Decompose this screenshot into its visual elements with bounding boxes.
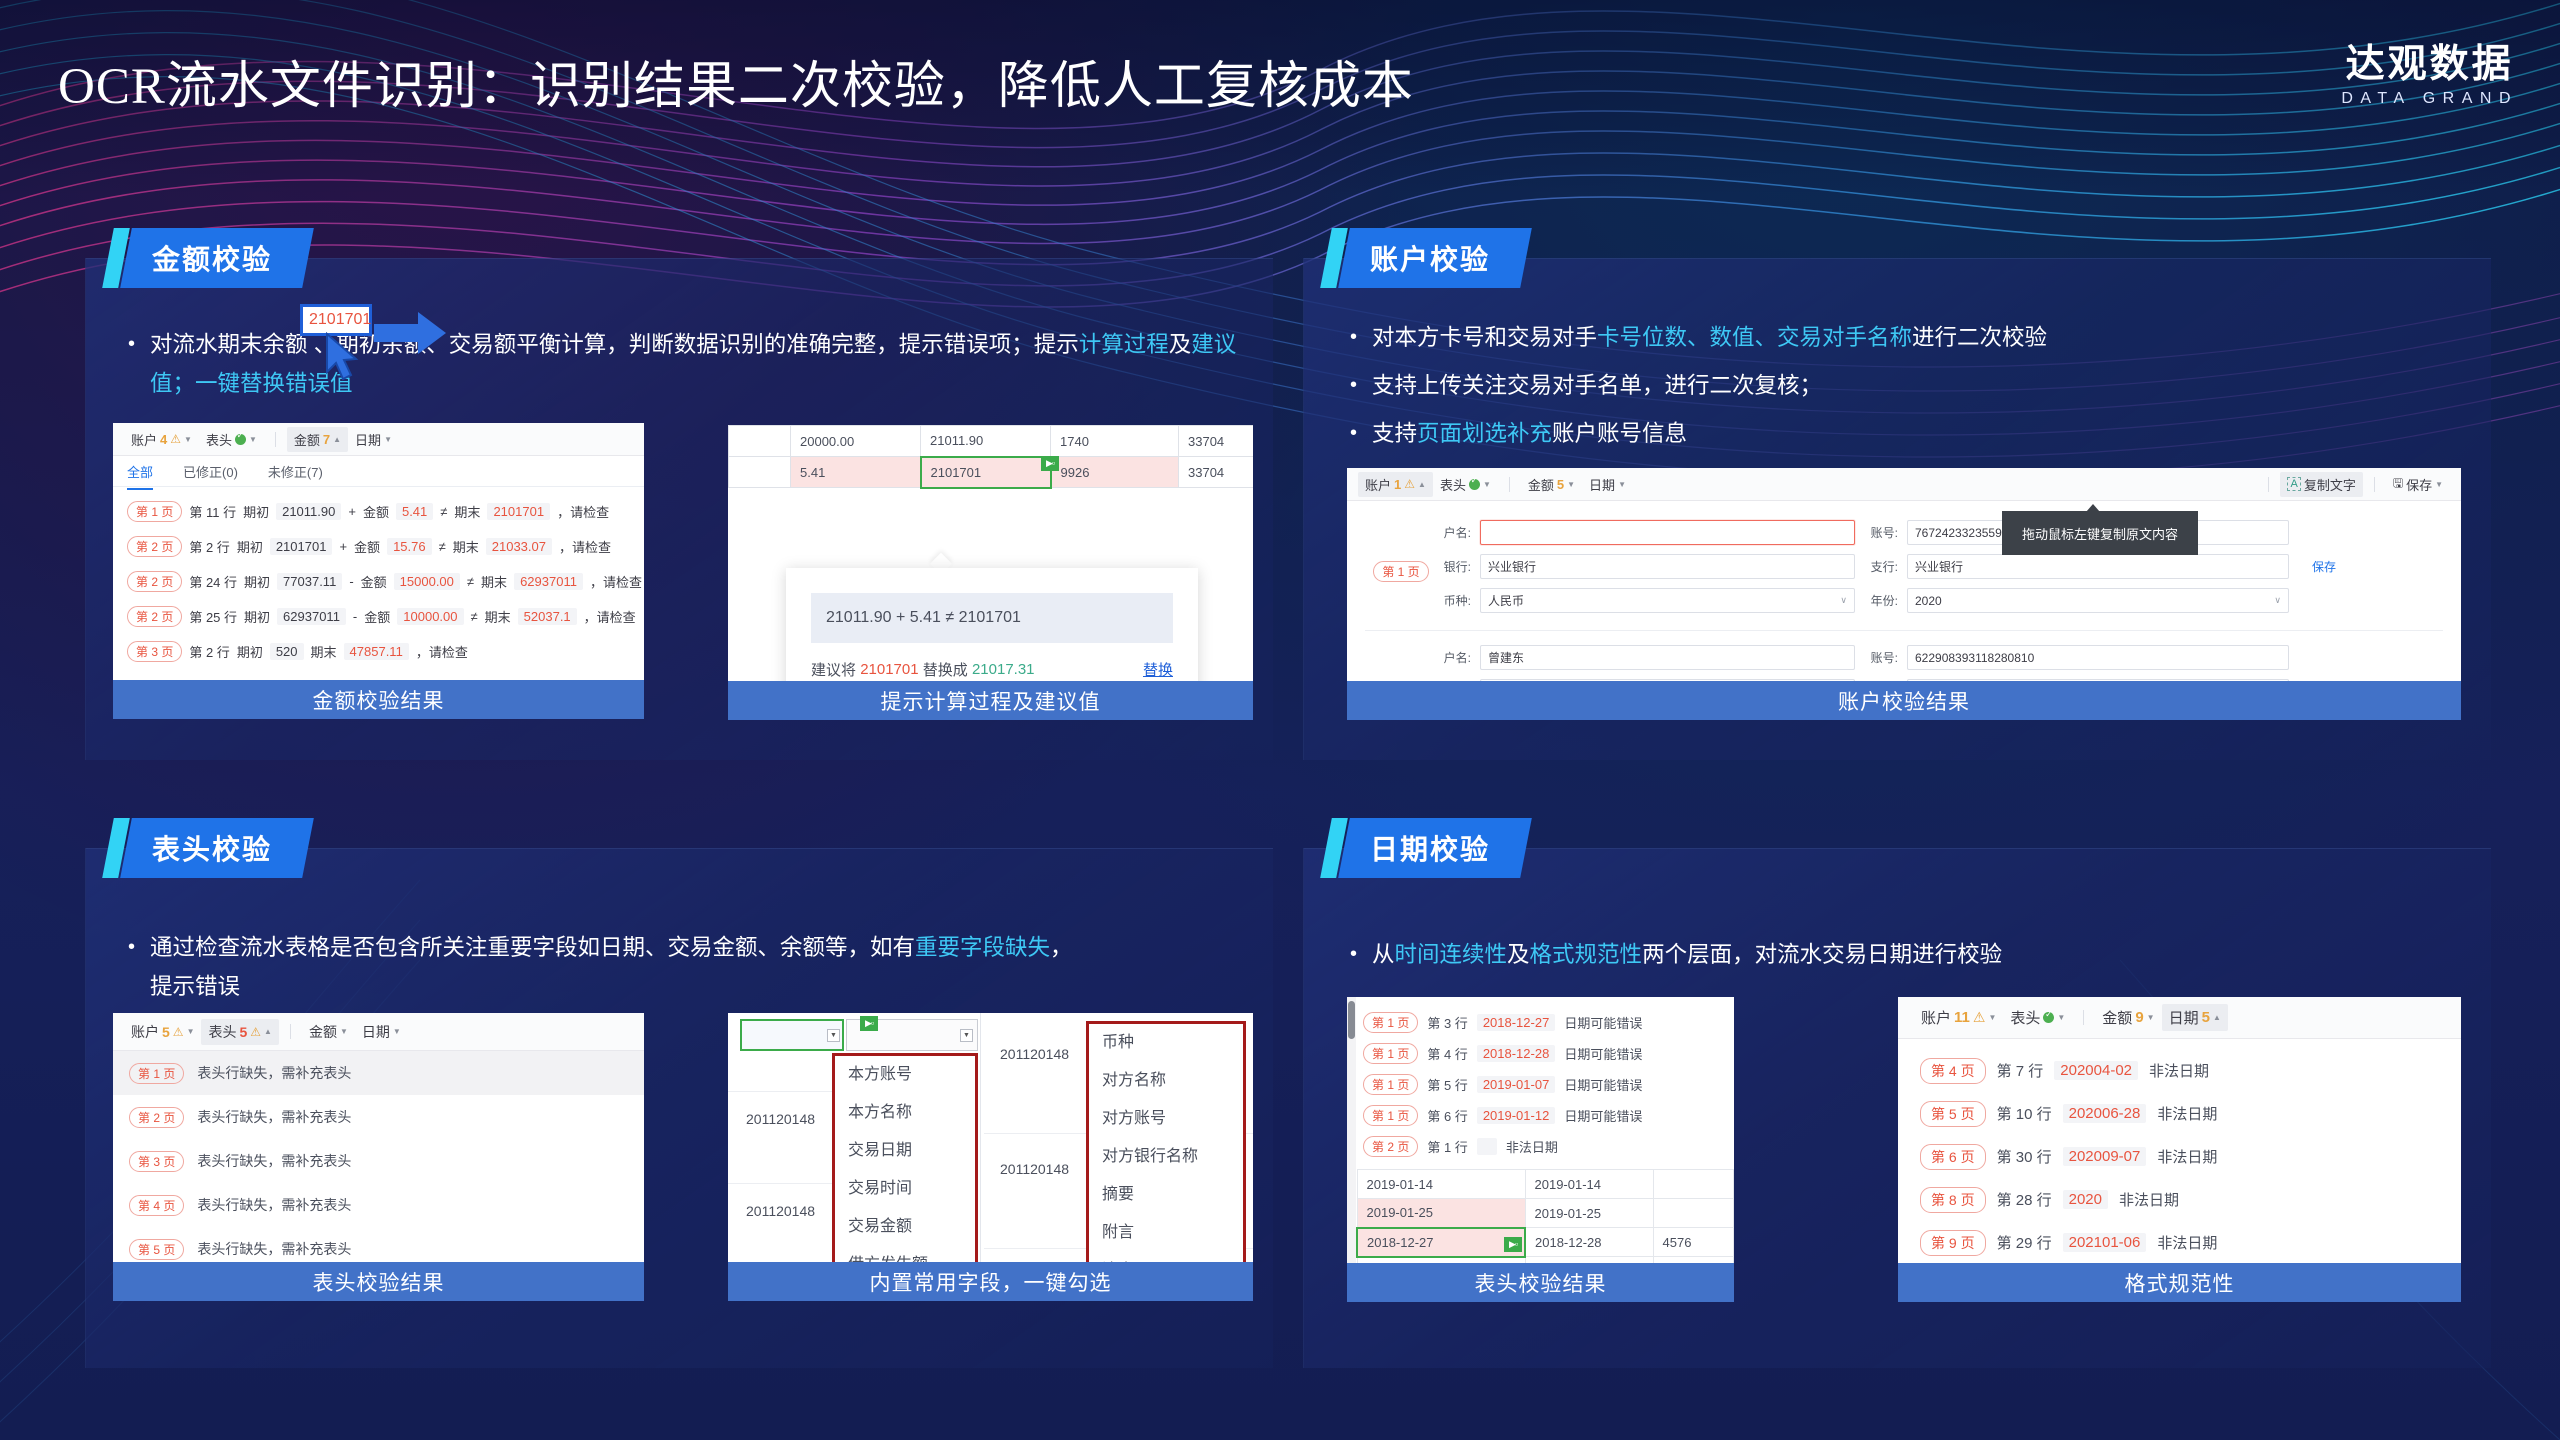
toolbar-amount-label: 金额 bbox=[294, 430, 320, 449]
row-line: 第 7 行 bbox=[1997, 1060, 2044, 1081]
table-row[interactable]: 第 1 页 第 11 行 期初 21011.90 + 金额 5.41 ≠ 期末 … bbox=[113, 494, 644, 529]
list-item[interactable]: 第 9 页 第 29 行 202101-06 非法日期 bbox=[1898, 1221, 2461, 1264]
toolbar-date-filter[interactable]: 日期 ▼ bbox=[1582, 472, 1633, 497]
list-item[interactable]: 第 6 页 第 30 行 202009-07 非法日期 bbox=[1898, 1135, 2461, 1178]
row-msg: 日期可能错误 bbox=[1564, 1013, 1642, 1032]
caption-builtin-fields: 内置常用字段，一键勾选 bbox=[728, 1262, 1253, 1301]
list-item[interactable]: 第 1 页 第 4 行 2018-12-28 日期可能错误 bbox=[1347, 1038, 1734, 1069]
row-msg: 非法日期 bbox=[2149, 1060, 2209, 1081]
caption-header-result: 表头校验结果 bbox=[113, 1262, 644, 1301]
caption-text: 金额校验结果 bbox=[313, 685, 445, 715]
toolbar-amount-count: 5 bbox=[1557, 477, 1564, 492]
toolbar-account-filter[interactable]: 账户 11 ⚠ ▼ bbox=[1914, 1004, 2003, 1031]
field-option[interactable]: 摘要 bbox=[1089, 1176, 1243, 1214]
row-k3: 期末 bbox=[311, 642, 337, 661]
toolbar-divider bbox=[2268, 477, 2269, 492]
bullet-list-header: • 通过检查流水表格是否包含所关注重要字段如日期、交易金额、余额等，如有重要字段… bbox=[128, 928, 1073, 1015]
save-disk-icon: 🖫 bbox=[2393, 474, 2403, 495]
bullet-pre: 从 bbox=[1372, 942, 1395, 967]
bullet-pre: 支持上传关注交易对手名单，进行二次复核； bbox=[1372, 373, 1822, 398]
bullet-text: 通过检查流水表格是否包含所关注重要字段如日期、交易金额、余额等，如有重要字段缺失… bbox=[150, 928, 1073, 1006]
toolbar-account-label: 账户 bbox=[1365, 475, 1391, 494]
cell-date-a-selected[interactable]: 2018-12-27 bbox=[1357, 1228, 1525, 1257]
page-badge-wrap: 第 1 页 bbox=[1365, 561, 1437, 582]
list-item-message: 表头行缺失，需补充表头 bbox=[197, 1195, 351, 1215]
list-item[interactable]: 第 2 页 第 1 行 非法日期 bbox=[1347, 1131, 1734, 1162]
popup-suggestion: 建议将 2101701 替换成 21017.31 替换 bbox=[811, 659, 1173, 680]
bullet-highlight: 卡号位数、数值、交易对手名称 bbox=[1597, 325, 1912, 350]
scrollbar-thumb[interactable] bbox=[1348, 1001, 1355, 1039]
list-item[interactable]: 第 4 页 表头行缺失，需补充表头 bbox=[113, 1183, 644, 1227]
row-v1: 520 bbox=[270, 643, 304, 660]
page-badge: 第 2 页 bbox=[129, 1107, 184, 1128]
account-toolbar: 账户 1 ⚠ ▲ 表头 ▼ 金额 5 ▼ 日期 ▼ A 复制文字 bbox=[1347, 468, 2461, 501]
screenshot-calc-hint: 20000.00 21011.90 1740 33704 5.41 210170… bbox=[728, 425, 1253, 720]
list-item[interactable]: 第 1 页 第 6 行 2019-01-12 日期可能错误 bbox=[1347, 1100, 1734, 1131]
row-ne: ≠ bbox=[467, 574, 474, 589]
toolbar-date-filter[interactable]: 日期 5 ▲ bbox=[2162, 1004, 2228, 1031]
locate-source-icon[interactable]: ▶▫ bbox=[1504, 1237, 1522, 1252]
list-item[interactable]: 第 3 页 表头行缺失，需补充表头 bbox=[113, 1139, 644, 1183]
row-line: 第 24 行 bbox=[189, 572, 237, 591]
row-line: 第 3 行 bbox=[1427, 1013, 1467, 1032]
cell-date-a: 2019-01-25 bbox=[1357, 1199, 1525, 1228]
bullet-text: 支持页面划选补充账户账号信息 bbox=[1372, 414, 1687, 453]
bullet-post: ， bbox=[1050, 935, 1073, 960]
toolbar-amount-filter[interactable]: 金额 5 ▼ bbox=[1521, 472, 1582, 497]
copy-text-icon: A bbox=[2287, 477, 2300, 491]
tab-fixed[interactable]: 已修正(0) bbox=[183, 462, 238, 481]
save-link[interactable]: 保存 bbox=[2312, 558, 2336, 575]
tab-all[interactable]: 全部 bbox=[127, 462, 153, 481]
mouse-cursor-icon bbox=[323, 332, 369, 388]
popup-equation: 21011.90 + 5.41 ≠ 2101701 bbox=[811, 593, 1173, 643]
screenshot-date-format: 账户 11 ⚠ ▼ 表头 ▼ 金额 9 ▼ 日期 5 ▲ 第 4 页 第 7 行… bbox=[1898, 997, 2461, 1302]
cell-num bbox=[1653, 1199, 1734, 1228]
page-badge: 第 2 页 bbox=[127, 571, 182, 592]
bullet-dot: • bbox=[1350, 366, 1372, 405]
chevron-down-icon: ▼ bbox=[1618, 480, 1626, 489]
field-dropdown-list-right[interactable]: 币种 对方名称 对方账号 对方银行名称 摘要 附言 流水号 bbox=[1086, 1021, 1246, 1293]
toolbar-amount-count: 7 bbox=[323, 432, 330, 447]
chevron-down-icon: ▼ bbox=[384, 435, 392, 444]
field-option[interactable]: 交易金额 bbox=[835, 1208, 975, 1246]
row-op: - bbox=[349, 574, 353, 589]
row-date: 2018-12-28 bbox=[1477, 1045, 1556, 1062]
year-value: 2020 bbox=[1915, 594, 1942, 608]
bullet-highlight: 重要字段缺失 bbox=[915, 935, 1050, 960]
toolbar-account-label: 账户 bbox=[131, 430, 157, 449]
table-row: 2019-01-25 2019-01-25 bbox=[1357, 1199, 1734, 1228]
row-date: 2019-01-12 bbox=[1477, 1107, 1556, 1124]
cell-value: 201120148 bbox=[1000, 1161, 1069, 1177]
field-option[interactable]: 附言 bbox=[1089, 1214, 1243, 1252]
chevron-down-icon: ▼ bbox=[2057, 1013, 2065, 1022]
warning-triangle-icon: ⚠ bbox=[250, 1025, 261, 1039]
cell-r1c4: 33704 bbox=[1179, 426, 1254, 457]
warning-triangle-icon: ⚠ bbox=[170, 432, 181, 446]
chevron-down-icon: ∨ bbox=[2274, 595, 2281, 606]
bullet-dot: • bbox=[128, 928, 150, 1006]
label-acct: 账号: bbox=[1864, 524, 1898, 541]
toolbar-divider bbox=[1509, 477, 1510, 492]
year-select[interactable]: 2020∨ bbox=[1907, 588, 2289, 613]
row-ne: ≠ bbox=[471, 609, 478, 624]
bullet-text: 对流水期末余额 、期初余额、交易额平衡计算，判断数据识别的准确完整，提示错误项；… bbox=[150, 325, 1260, 403]
chevron-up-icon: ▲ bbox=[1418, 480, 1426, 489]
toolbar-tablehead-count: 5 bbox=[239, 1024, 247, 1040]
field-option[interactable]: 交易时间 bbox=[835, 1170, 975, 1208]
field-option[interactable]: 本方名称 bbox=[835, 1094, 975, 1132]
name-input[interactable] bbox=[1480, 520, 1855, 545]
chevron-up-icon: ▲ bbox=[2213, 1013, 2221, 1022]
screenshot-date-continuity: 第 1 页 第 3 行 2018-12-27 日期可能错误 第 1 页 第 4 … bbox=[1347, 997, 1734, 1302]
toolbar-amount-label: 金额 bbox=[2102, 1007, 2132, 1028]
toolbar-tablehead-filter[interactable]: 表头 ▼ bbox=[2003, 1004, 2072, 1031]
chevron-down-icon: ▼ bbox=[249, 435, 257, 444]
row-msg: 非法日期 bbox=[2119, 1189, 2179, 1210]
list-item-message: 表头行缺失，需补充表头 bbox=[197, 1151, 351, 1171]
page-badge: 第 2 页 bbox=[127, 536, 182, 557]
branch-input[interactable]: 兴业银行 bbox=[1907, 554, 2289, 579]
row-v3: 47857.11 bbox=[344, 643, 409, 660]
cell-r2c3: 9926 bbox=[1051, 457, 1179, 488]
row-v2: 15000.00 bbox=[394, 573, 460, 590]
cell-num: 4576 bbox=[1653, 1228, 1734, 1257]
toolbar-tablehead-filter[interactable]: 表头 ▼ bbox=[1433, 472, 1498, 497]
row-k1: 期初 bbox=[244, 607, 270, 626]
list-item[interactable]: 第 1 页 第 3 行 2018-12-27 日期可能错误 bbox=[1347, 1007, 1734, 1038]
acct-value: 622908393118280810 bbox=[1915, 651, 2034, 665]
cell-r2c2-selected[interactable]: 2101701 bbox=[921, 457, 1051, 488]
vertical-scrollbar[interactable] bbox=[1347, 997, 1356, 1302]
list-item[interactable]: 第 2 页 表头行缺失，需补充表头 bbox=[113, 1095, 644, 1139]
row-date: 2020 bbox=[2063, 1190, 2108, 1209]
bullet-pre: 支持 bbox=[1372, 421, 1417, 446]
form-row-currency-year: 币种: 人民币∨ 年份: 2020∨ bbox=[1437, 588, 2461, 613]
row-line: 第 30 行 bbox=[1997, 1146, 2052, 1167]
page-title: OCR流水文件识别：识别结果二次校验，降低人工复核成本 bbox=[58, 44, 1414, 118]
toolbar-divider bbox=[2083, 1010, 2084, 1025]
locate-source-icon[interactable]: ▶▫ bbox=[860, 1016, 878, 1031]
list-item[interactable]: 第 1 页 第 5 行 2019-01-07 日期可能错误 bbox=[1347, 1069, 1734, 1100]
suggest-pre: 建议将 bbox=[811, 659, 856, 680]
row-msg: 非法日期 bbox=[1506, 1137, 1558, 1156]
row-v3: 21033.07 bbox=[486, 538, 552, 555]
row-line: 第 10 行 bbox=[1997, 1103, 2052, 1124]
suggest-right-value: 21017.31 bbox=[972, 661, 1035, 678]
row-v1: 77037.11 bbox=[277, 573, 342, 590]
caption-text: 表头校验结果 bbox=[313, 1267, 445, 1297]
row-k2: 金额 bbox=[354, 537, 380, 556]
toolbar-account-label: 账户 bbox=[1921, 1007, 1951, 1028]
table-row[interactable]: 第 3 页 第 2 行 期初 520 期末 47857.11 ，请检查 bbox=[113, 634, 644, 669]
cell-value: 201120148 bbox=[746, 1111, 815, 1127]
field-option[interactable]: 币种 bbox=[1089, 1024, 1243, 1062]
field-option[interactable]: 对方账号 bbox=[1089, 1100, 1243, 1138]
row-v1: 21011.90 bbox=[276, 503, 341, 520]
field-option[interactable]: 对方名称 bbox=[1089, 1062, 1243, 1100]
banner-label: 表头校验 bbox=[126, 828, 308, 868]
row-msg: 非法日期 bbox=[2157, 1146, 2217, 1167]
row-op: + bbox=[339, 539, 347, 554]
check-circle-icon bbox=[1469, 479, 1480, 490]
caption-amount-result: 金额校验结果 bbox=[113, 680, 644, 719]
caption-text: 格式规范性 bbox=[2125, 1268, 2235, 1298]
toolbar-date-filter[interactable]: 日期 ▼ bbox=[348, 427, 399, 452]
table-row[interactable]: 第 2 页 第 2 行 期初 2101701 + 金额 15.76 ≠ 期末 2… bbox=[113, 529, 644, 564]
row-line: 第 2 行 bbox=[189, 537, 229, 556]
save-button[interactable]: 🖫 保存 ▼ bbox=[2386, 471, 2450, 498]
copy-text-tooltip: 拖动鼠标左键复制原文内容 bbox=[2002, 511, 2198, 555]
list-item[interactable]: 第 4 页 第 7 行 202004-02 非法日期 bbox=[1898, 1049, 2461, 1092]
chevron-down-icon: ▼ bbox=[2147, 1013, 2155, 1022]
section-banner-amount: 金额校验 bbox=[108, 228, 308, 288]
chevron-down-icon: ▼ bbox=[187, 1027, 195, 1036]
list-item[interactable]: 第 1 页 表头行缺失，需补充表头 bbox=[113, 1051, 644, 1095]
bullet-highlight-2: 格式规范性 bbox=[1530, 942, 1643, 967]
row-v2: 15.76 bbox=[387, 538, 432, 555]
bullet-text: 支持上传关注交易对手名单，进行二次复核； bbox=[1372, 366, 1822, 405]
toolbar-tablehead-label: 表头 bbox=[208, 1022, 236, 1042]
label-year: 年份: bbox=[1864, 592, 1898, 609]
toolbar-amount-filter[interactable]: 金额 9 ▼ bbox=[2095, 1004, 2161, 1031]
chevron-up-icon: ▲ bbox=[333, 435, 341, 444]
suggest-mid: 替换成 bbox=[923, 659, 968, 680]
bullet-mid: 及 bbox=[1169, 332, 1192, 357]
row-k2: 金额 bbox=[364, 607, 390, 626]
row-v2: 5.41 bbox=[396, 503, 433, 520]
toolbar-tablehead-filter[interactable]: 表头 ▼ bbox=[199, 427, 264, 452]
chevron-down-icon: ▼ bbox=[1988, 1013, 1996, 1022]
page-badge: 第 3 页 bbox=[129, 1151, 184, 1172]
warning-triangle-icon: ⚠ bbox=[1404, 477, 1415, 491]
cell-r1c1: 20000.00 bbox=[791, 426, 921, 457]
toolbar-account-filter[interactable]: 账户 1 ⚠ ▲ bbox=[1358, 472, 1433, 497]
toolbar-account-count: 4 bbox=[160, 432, 167, 447]
row-k1: 期初 bbox=[243, 502, 269, 521]
list-item[interactable]: 第 5 页 第 10 行 202006-28 非法日期 bbox=[1898, 1092, 2461, 1135]
row-ne: ≠ bbox=[439, 539, 446, 554]
acct-value: 7672423323559 bbox=[1915, 526, 2002, 540]
row-v3: 2101701 bbox=[487, 503, 550, 520]
inline-edit-value: 2101701 bbox=[303, 311, 371, 329]
banner-plate: 日期校验 bbox=[1338, 818, 1532, 878]
field-option[interactable]: 对方银行名称 bbox=[1089, 1138, 1243, 1176]
section-banner-date: 日期校验 bbox=[1326, 818, 1526, 878]
row-tail: ，请检查 bbox=[590, 572, 642, 591]
bullet-item: • 支持页面划选补充账户账号信息 bbox=[1350, 414, 2047, 453]
section-banner-account: 账户校验 bbox=[1326, 228, 1526, 288]
currency-select[interactable]: 人民币∨ bbox=[1480, 588, 1855, 613]
bullet-item: • 从时间连续性及格式规范性两个层面，对流水交易日期进行校验 bbox=[1350, 935, 2002, 974]
page-badge: 第 2 页 bbox=[1363, 1136, 1418, 1157]
row-line: 第 29 行 bbox=[1997, 1232, 2052, 1253]
page-badge: 第 1 页 bbox=[1373, 561, 1428, 582]
list-item-message: 表头行缺失，需补充表头 bbox=[197, 1107, 351, 1127]
chevron-down-icon: ∨ bbox=[1840, 595, 1847, 606]
row-line: 第 25 行 bbox=[189, 607, 237, 626]
row-k3: 期末 bbox=[453, 537, 479, 556]
page-badge: 第 1 页 bbox=[1363, 1043, 1418, 1064]
bullet-text: 对本方卡号和交易对手卡号位数、数值、交易对手名称进行二次校验 bbox=[1372, 318, 2047, 357]
label-bank: 银行: bbox=[1437, 558, 1471, 575]
page-badge: 第 4 页 bbox=[1920, 1058, 1986, 1084]
bullet-highlight: 计算过程 bbox=[1079, 332, 1169, 357]
row-v3: 62937011 bbox=[514, 573, 583, 590]
page-badge: 第 4 页 bbox=[129, 1195, 184, 1216]
table-row[interactable]: 第 2 页 第 24 行 期初 77037.11 - 金额 15000.00 ≠… bbox=[113, 564, 644, 599]
caption-format-norm: 格式规范性 bbox=[1898, 1263, 2461, 1302]
row-v2: 10000.00 bbox=[397, 608, 463, 625]
bullet-highlight: 时间连续性 bbox=[1395, 942, 1508, 967]
bullet-item: • 通过检查流水表格是否包含所关注重要字段如日期、交易金额、余额等，如有重要字段… bbox=[128, 928, 1073, 1006]
toolbar-date-label: 日期 bbox=[362, 1022, 390, 1042]
row-v1: 2101701 bbox=[270, 538, 333, 555]
name-value: 曾建东 bbox=[1488, 649, 1524, 666]
toolbar-amount-filter[interactable]: 金额 7 ▲ bbox=[287, 427, 348, 452]
locate-source-icon[interactable]: ▶▫ bbox=[1041, 456, 1059, 471]
page-badge: 第 1 页 bbox=[1363, 1012, 1418, 1033]
field-option[interactable]: 交易日期 bbox=[835, 1132, 975, 1170]
page-badge: 第 2 页 bbox=[127, 606, 182, 627]
date-format-toolbar: 账户 11 ⚠ ▼ 表头 ▼ 金额 9 ▼ 日期 5 ▲ bbox=[1898, 997, 2461, 1039]
caption-calc-hint: 提示计算过程及建议值 bbox=[728, 681, 1253, 720]
replace-link[interactable]: 替换 bbox=[1143, 659, 1173, 680]
page-badge: 第 1 页 bbox=[1363, 1105, 1418, 1126]
caption-account-result: 账户校验结果 bbox=[1347, 681, 2461, 720]
toolbar-account-count: 5 bbox=[162, 1024, 170, 1040]
flow-arrow-icon bbox=[374, 308, 448, 360]
list-item[interactable]: 第 8 页 第 28 行 2020 非法日期 bbox=[1898, 1178, 2461, 1221]
logo-chinese: 达观数据 bbox=[2341, 44, 2518, 86]
toolbar-account-count: 11 bbox=[1954, 1009, 1970, 1026]
row-v3: 52037.1 bbox=[518, 608, 577, 625]
warning-triangle-icon: ⚠ bbox=[173, 1025, 184, 1039]
table-row[interactable]: 第 2 页 第 25 行 期初 62937011 - 金额 10000.00 ≠… bbox=[113, 599, 644, 634]
screenshot-header-result: 账户 5 ⚠ ▼ 表头 5 ⚠ ▲ 金额 ▼ 日期 ▼ 第 1 页 表头行缺失，… bbox=[113, 1013, 644, 1301]
label-name: 户名: bbox=[1437, 649, 1471, 666]
cell-r2c1: 5.41 bbox=[791, 457, 921, 488]
field-option[interactable]: 本方账号 bbox=[835, 1056, 975, 1094]
bullet-post: 进行二次校验 bbox=[1912, 325, 2047, 350]
toolbar-tablehead-label: 表头 bbox=[1440, 475, 1466, 494]
row-k1: 期初 bbox=[237, 537, 263, 556]
header-cell-dropdown-left[interactable]: ▼ bbox=[740, 1019, 844, 1051]
screenshot-builtin-fields: ▼ ▼ ▶▫ 201120148 201120148 201120148 201… bbox=[728, 1013, 1253, 1301]
toolbar-amount-filter[interactable]: 金额 ▼ bbox=[302, 1019, 355, 1045]
page-badge: 第 6 页 bbox=[1920, 1144, 1986, 1170]
page-badge: 第 9 页 bbox=[1920, 1230, 1986, 1256]
acct-input[interactable]: 622908393118280810 bbox=[1907, 645, 2289, 670]
warning-triangle-icon: ⚠ bbox=[1973, 1009, 1986, 1026]
check-circle-icon bbox=[235, 434, 246, 445]
toolbar-tablehead-label: 表头 bbox=[2010, 1007, 2040, 1028]
banner-plate: 表头校验 bbox=[120, 818, 314, 878]
toolbar-date-label: 日期 bbox=[355, 430, 381, 449]
chevron-down-icon: ▼ bbox=[1567, 480, 1575, 489]
toolbar-date-count: 5 bbox=[2202, 1009, 2210, 1026]
toolbar-amount-label: 金额 bbox=[309, 1022, 337, 1042]
caption-date-header-result: 表头校验结果 bbox=[1347, 1263, 1734, 1302]
account-group: 第 1 页 户名: 账号: 7672423323559 银行: 兴业银行 支行:… bbox=[1347, 501, 2461, 622]
amount-tabs: 全部 已修正(0) 未修正(7) bbox=[113, 456, 644, 487]
name-input[interactable]: 曾建东 bbox=[1480, 645, 1855, 670]
caption-text: 内置常用字段，一键勾选 bbox=[870, 1267, 1112, 1297]
cell-date-a: 2019-01-14 bbox=[1357, 1170, 1525, 1199]
row-date: 202009-07 bbox=[2063, 1147, 2147, 1166]
ledger-table: 20000.00 21011.90 1740 33704 5.41 210170… bbox=[728, 425, 1253, 489]
toolbar-date-filter[interactable]: 日期 ▼ bbox=[355, 1019, 408, 1045]
page-badge: 第 8 页 bbox=[1920, 1187, 1986, 1213]
page-badge: 第 3 页 bbox=[127, 641, 182, 662]
row-msg: 非法日期 bbox=[2157, 1103, 2217, 1124]
row-tail: ，请检查 bbox=[557, 502, 609, 521]
branch-value: 兴业银行 bbox=[1915, 558, 1963, 575]
tab-unfixed[interactable]: 未修正(7) bbox=[268, 462, 323, 481]
row-k1: 期初 bbox=[244, 572, 270, 591]
cell-blank bbox=[729, 457, 791, 488]
row-msg: 日期可能错误 bbox=[1564, 1075, 1642, 1094]
bullet-line2: 提示错误 bbox=[150, 974, 240, 999]
toolbar-tablehead-label: 表头 bbox=[206, 430, 232, 449]
bullet-item: • 对本方卡号和交易对手卡号位数、数值、交易对手名称进行二次校验 bbox=[1350, 318, 2047, 357]
bullet-list-account: • 对本方卡号和交易对手卡号位数、数值、交易对手名称进行二次校验 • 支持上传关… bbox=[1350, 318, 2047, 462]
chevron-down-icon: ▼ bbox=[340, 1027, 348, 1036]
form-row-name-acct: 户名: 账号: 7672423323559 bbox=[1437, 520, 2461, 545]
bullet-dot: • bbox=[128, 325, 150, 403]
page-title-text: OCR流水文件识别：识别结果二次校验，降低人工复核成本 bbox=[58, 44, 1414, 118]
toolbar-account-filter[interactable]: 账户 4 ⚠ ▼ bbox=[124, 427, 199, 452]
list-item-message: 表头行缺失，需补充表头 bbox=[197, 1239, 351, 1259]
toolbar-amount-label: 金额 bbox=[1528, 475, 1554, 494]
row-msg: 日期可能错误 bbox=[1564, 1044, 1642, 1063]
cell-blank bbox=[729, 426, 791, 457]
logo-english: DATA GRAND bbox=[2341, 90, 2518, 108]
page-badge: 第 5 页 bbox=[129, 1239, 184, 1260]
bank-input[interactable]: 兴业银行 bbox=[1480, 554, 1855, 579]
cell-value: 201120148 bbox=[1000, 1046, 1069, 1062]
toolbar-account-filter[interactable]: 账户 5 ⚠ ▼ bbox=[124, 1019, 201, 1045]
label-name: 户名: bbox=[1437, 524, 1471, 541]
row-date: 2018-12-27 bbox=[1477, 1014, 1556, 1031]
row-k3: 期末 bbox=[481, 572, 507, 591]
toolbar-tablehead-filter[interactable]: 表头 5 ⚠ ▲ bbox=[201, 1019, 278, 1045]
copy-text-button[interactable]: A 复制文字 bbox=[2280, 472, 2362, 497]
cell-r1c3: 1740 bbox=[1051, 426, 1179, 457]
table-row: 5.41 2101701 9926 33704 bbox=[729, 457, 1254, 488]
bank-value: 兴业银行 bbox=[1488, 558, 1536, 575]
cell-date-b: 2019-01-25 bbox=[1525, 1199, 1653, 1228]
amount-toolbar: 账户 4 ⚠ ▼ 表头 ▼ 金额 7 ▲ 日期 ▼ bbox=[113, 423, 644, 456]
suggest-wrong-value: 2101701 bbox=[860, 661, 918, 678]
row-k3: 期末 bbox=[485, 607, 511, 626]
table-row: 20000.00 21011.90 1740 33704 bbox=[729, 426, 1254, 457]
toolbar-divider bbox=[2374, 477, 2375, 492]
bullet-highlight: 页面划选补充 bbox=[1417, 421, 1552, 446]
bullet-text: 从时间连续性及格式规范性两个层面，对流水交易日期进行校验 bbox=[1372, 935, 2002, 974]
banner-label: 日期校验 bbox=[1344, 828, 1526, 868]
page-badge: 第 5 页 bbox=[1920, 1101, 1986, 1127]
caption-text: 提示计算过程及建议值 bbox=[881, 686, 1101, 716]
row-date: 2019-01-07 bbox=[1477, 1076, 1556, 1093]
header-toolbar: 账户 5 ⚠ ▼ 表头 5 ⚠ ▲ 金额 ▼ 日期 ▼ bbox=[113, 1013, 644, 1051]
currency-value: 人民币 bbox=[1488, 592, 1524, 609]
check-circle-icon bbox=[2043, 1012, 2054, 1023]
cell-r2c4: 33704 bbox=[1179, 457, 1254, 488]
toolbar-date-label: 日期 bbox=[1589, 475, 1615, 494]
save-label: 保存 bbox=[2406, 475, 2432, 494]
